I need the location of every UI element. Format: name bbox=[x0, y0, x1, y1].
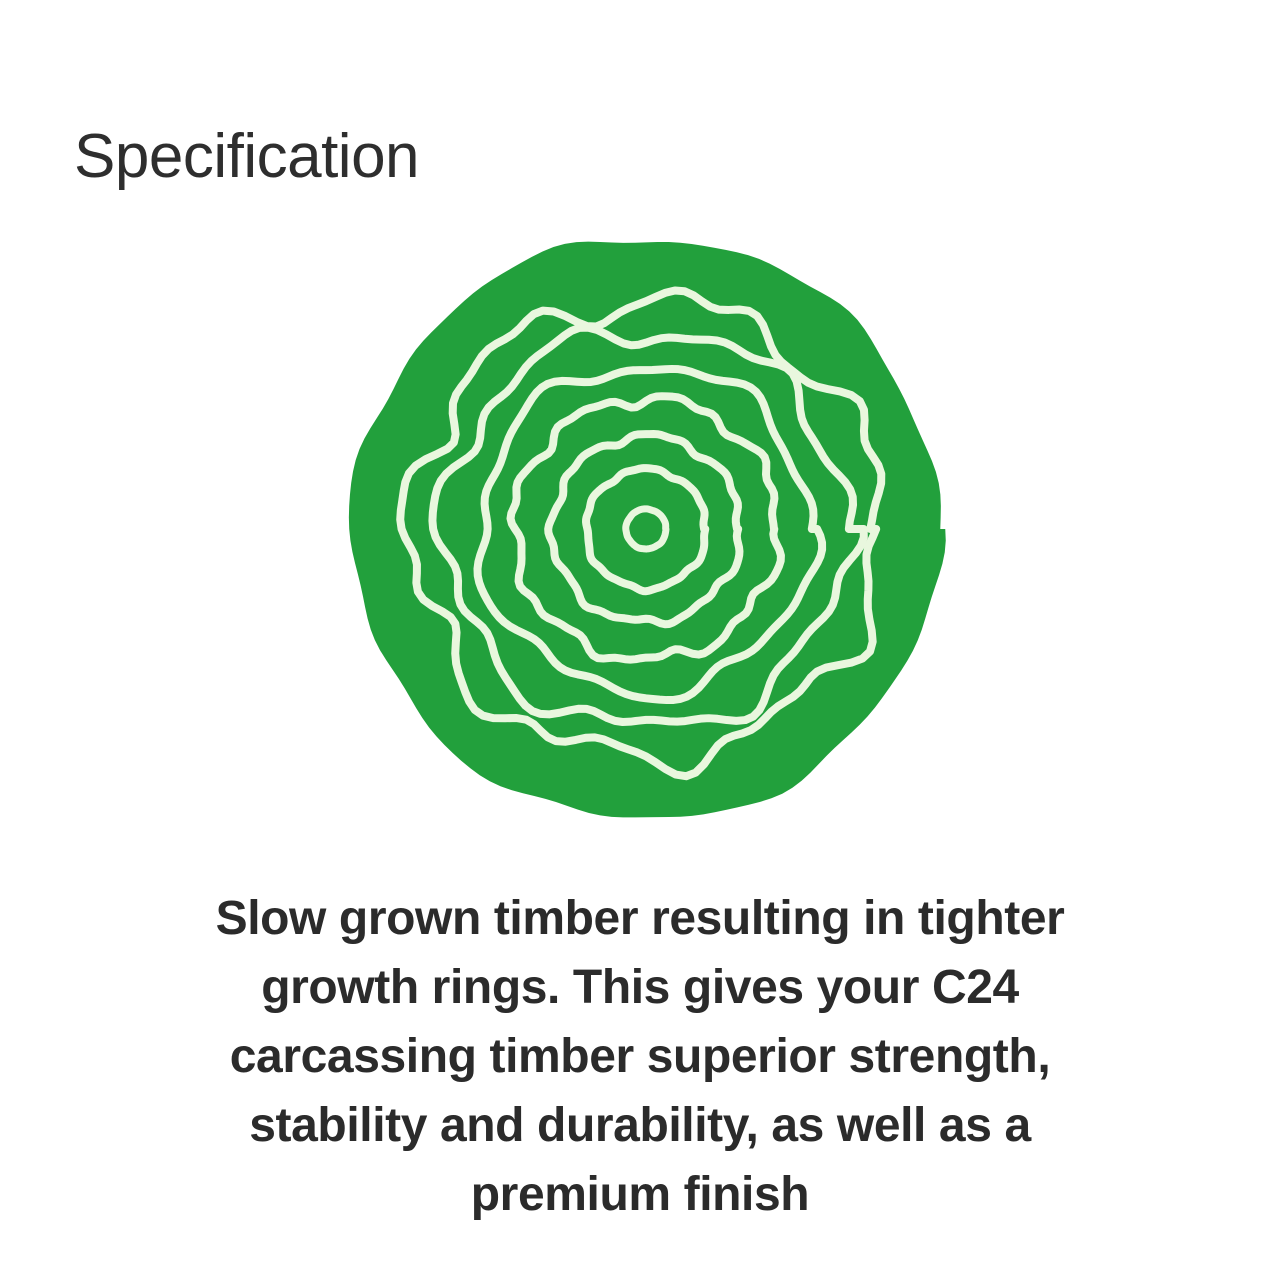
caption-line: carcassing timber superior strength, bbox=[140, 1022, 1140, 1091]
caption-text-block: Slow grown timber resulting in tighter g… bbox=[140, 884, 1140, 1229]
page-title: Specification bbox=[74, 124, 419, 190]
caption-line: stability and durability, as well as a bbox=[140, 1091, 1140, 1160]
specification-panel: Specification Slow grown timber resultin… bbox=[0, 0, 1280, 1280]
caption-line: premium finish bbox=[140, 1160, 1140, 1229]
caption-line: Slow grown timber resulting in tighter bbox=[140, 884, 1140, 953]
growth-rings-svg bbox=[346, 232, 946, 828]
caption-line: growth rings. This gives your C24 bbox=[140, 953, 1140, 1022]
tree-growth-rings-icon bbox=[346, 232, 946, 828]
